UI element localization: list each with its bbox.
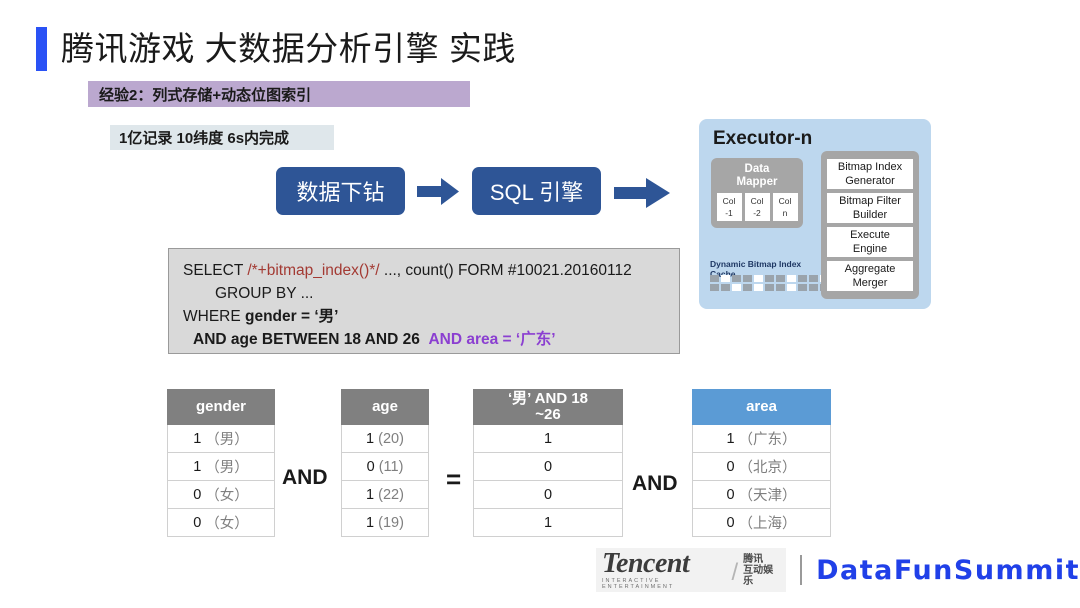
bitmap-cache-cell (776, 275, 785, 282)
bitmap-cache-cell (710, 284, 719, 291)
table-row: 1 （男） (167, 425, 275, 453)
sql-line1-rest: ..., count() FORM #10021.20160112 (380, 262, 632, 279)
row-label: (22) (378, 487, 404, 503)
sql-line-2: GROUP BY ... (169, 282, 679, 305)
bit-value: 1 (366, 487, 374, 503)
sql-line4-area-val: ‘广东’ (516, 331, 556, 348)
table-row: 1 (473, 509, 623, 537)
flow-node-data-drill[interactable]: 数据下钻 (276, 167, 405, 215)
bit-value: 1 (366, 515, 374, 531)
executor-stage-group: Bitmap IndexGenerator Bitmap FilterBuild… (821, 151, 919, 299)
row-label: （女） (205, 484, 249, 505)
executor-panel: Executor-n Data Mapper Col -1 Col -2 Col… (699, 119, 931, 309)
data-mapper-title: Data Mapper (711, 158, 803, 189)
stage-bitmap-filter-builder[interactable]: Bitmap FilterBuilder (827, 193, 913, 223)
tencent-cn-line1: 腾讯 (743, 554, 780, 565)
table-row: 0 （天津） (692, 481, 831, 509)
bit-value: 0 (193, 487, 201, 503)
metric-text: 1亿记录 10纬度 6s内完成 (110, 127, 289, 148)
footer-divider (800, 555, 802, 585)
subtitle-banner: 经验2：列式存储+动态位图索引 (88, 81, 470, 107)
tencent-logo: Tencent INTERACTIVE ENTERTAINMENT / 腾讯 互… (596, 548, 786, 592)
bitmap-cache-cell (732, 284, 741, 291)
data-mapper-col: Col -2 (745, 193, 770, 221)
sql-code-block: SELECT /*+bitmap_index()*/ ..., count() … (168, 248, 680, 354)
bit-value: 0 (726, 515, 734, 531)
table-row: 0 (11) (341, 453, 429, 481)
sql-line-1: SELECT /*+bitmap_index()*/ ..., count() … (169, 259, 679, 282)
bitmap-cache-cell (787, 275, 796, 282)
row-label: （北京） (739, 456, 797, 477)
table-row: 0 （女） (167, 509, 275, 537)
data-mapper-columns: Col -1 Col -2 Col n (711, 193, 803, 221)
table-row: 0 (473, 481, 623, 509)
table-result: ‘男’ AND 18 ~26 1 0 0 1 (473, 389, 623, 537)
tencent-tagline: INTERACTIVE ENTERTAINMENT (602, 579, 726, 590)
stage-line1: Bitmap Filter (839, 195, 901, 207)
bit-value: 0 (544, 487, 552, 503)
table-row: 1 (20) (341, 425, 429, 453)
table-area-header: area (692, 389, 831, 425)
stage-line1: Aggregate (845, 263, 896, 275)
operator-and-1: AND (282, 466, 328, 490)
bitmap-cache-cell (798, 275, 807, 282)
sql-line3-val: ‘男’ (314, 308, 338, 325)
sql-line3-where: WHERE (183, 308, 245, 325)
table-result-header: ‘男’ AND 18 ~26 (473, 389, 623, 425)
bit-value: 0 (193, 515, 201, 531)
row-label: (19) (378, 515, 404, 531)
bitmap-cache-cell (710, 275, 719, 282)
executor-title: Executor-n (713, 128, 812, 150)
data-mapper-title-line1: Data (711, 163, 803, 176)
stage-line2: Builder (853, 209, 887, 221)
bit-value: 1 (193, 431, 201, 447)
stage-line2: Engine (853, 243, 887, 255)
stage-line2: Generator (845, 175, 895, 187)
sql-line4-area-cond: AND area = (428, 331, 515, 348)
table-row: 0 （女） (167, 481, 275, 509)
page-title: 腾讯游戏 大数据分析引擎 实践 (36, 27, 516, 71)
datafunsummit-logo: DataFunSummit (816, 555, 1080, 586)
sql-line-4: AND age BETWEEN 18 AND 26 AND area = ‘广东… (169, 328, 679, 351)
table-row: 0 (473, 453, 623, 481)
bitmap-cache-cell (721, 275, 730, 282)
stage-line1: Bitmap Index (838, 161, 902, 173)
tencent-name: Tencent (602, 550, 726, 578)
data-mapper-group: Data Mapper Col -1 Col -2 Col n (711, 158, 803, 228)
bitmap-cache-cell (743, 284, 752, 291)
flow-arrow-1-icon (417, 178, 459, 205)
bit-value: 1 (193, 459, 201, 475)
bit-value: 0 (544, 459, 552, 475)
row-label: （上海） (739, 512, 797, 533)
col-name: Col (745, 195, 770, 207)
subtitle-text: 经验2：列式存储+动态位图索引 (88, 84, 311, 105)
tencent-cn-line2: 互动娱乐 (743, 565, 780, 587)
sql-line-3: WHERE gender = ‘男’ (169, 305, 679, 328)
table-gender: gender 1 （男） 1 （男） 0 （女） 0 （女） (167, 389, 275, 537)
bitmap-cache-cell (754, 284, 763, 291)
bitmap-cache-cell (743, 275, 752, 282)
table-area: area 1 （广东） 0 （北京） 0 （天津） 0 （上海） (692, 389, 831, 537)
bit-value: 1 (544, 515, 552, 531)
row-label: （男） (205, 428, 249, 449)
table-row: 1 (19) (341, 509, 429, 537)
footer-logos: Tencent INTERACTIVE ENTERTAINMENT / 腾讯 互… (596, 548, 1080, 592)
bitmap-cache-cell (721, 284, 730, 291)
bitmap-cache-cell (809, 284, 818, 291)
row-label: （天津） (739, 484, 797, 505)
operator-equals: = (446, 464, 461, 495)
col-index: n (773, 207, 798, 219)
data-mapper-col: Col n (773, 193, 798, 221)
title-accent-bar (36, 27, 47, 71)
data-mapper-col: Col -1 (717, 193, 742, 221)
table-row: 1 （男） (167, 453, 275, 481)
sql-line3-col: gender = (245, 308, 314, 325)
col-index: -2 (745, 207, 770, 219)
flow-node-sql-engine[interactable]: SQL 引擎 (472, 167, 601, 215)
tencent-wordmark: Tencent INTERACTIVE ENTERTAINMENT (602, 550, 726, 590)
bitmap-cache-cell (765, 275, 774, 282)
bit-value: 1 (366, 431, 374, 447)
bitmap-cache-cell (765, 284, 774, 291)
table-gender-header: gender (167, 389, 275, 425)
table-row: 0 （上海） (692, 509, 831, 537)
sql-line1-hint: /*+bitmap_index()*/ (247, 262, 379, 279)
metric-banner: 1亿记录 10纬度 6s内完成 (110, 125, 334, 150)
table-row: 0 （北京） (692, 453, 831, 481)
bitmap-cache-cell (809, 275, 818, 282)
bit-value: 0 (726, 487, 734, 503)
operator-and-2: AND (632, 472, 678, 496)
stage-line2: Merger (853, 277, 888, 289)
stage-execute-engine[interactable]: ExecuteEngine (827, 227, 913, 257)
table-age-header: age (341, 389, 429, 425)
flow-node-drill-label: 数据下钻 (296, 175, 384, 207)
tencent-slash-divider: / (731, 559, 738, 587)
sql-line4-age: AND age BETWEEN 18 AND 26 (193, 331, 420, 348)
stage-aggregate-merger[interactable]: AggregateMerger (827, 261, 913, 291)
bitmap-cache-label-line1: Dynamic Bitmap Index (710, 259, 816, 269)
bit-value: 1 (726, 431, 734, 447)
table-result-header-line1: ‘男’ AND 18 (508, 390, 588, 407)
bit-value: 0 (367, 459, 375, 475)
table-result-header-line2: ~26 (535, 406, 560, 423)
slide-canvas: 腾讯游戏 大数据分析引擎 实践 经验2：列式存储+动态位图索引 1亿记录 10纬… (0, 0, 1080, 608)
table-row: 1 (473, 425, 623, 453)
bit-value: 1 (544, 431, 552, 447)
data-mapper-title-line2: Mapper (711, 176, 803, 189)
tencent-chinese-name: 腾讯 互动娱乐 (743, 554, 780, 590)
stage-bitmap-index-generator[interactable]: Bitmap IndexGenerator (827, 159, 913, 189)
col-index: -1 (717, 207, 742, 219)
flow-node-sql-label: SQL 引擎 (490, 175, 583, 207)
bitmap-cache-cell (776, 284, 785, 291)
col-name: Col (717, 195, 742, 207)
row-label: （男） (205, 456, 249, 477)
table-row: 1 （广东） (692, 425, 831, 453)
col-name: Col (773, 195, 798, 207)
table-row: 1 (22) (341, 481, 429, 509)
row-label: (20) (378, 431, 404, 447)
row-label: （女） (205, 512, 249, 533)
stage-line1: Execute (850, 229, 890, 241)
bit-value: 0 (726, 459, 734, 475)
flow-arrow-2-icon (614, 178, 670, 208)
row-label: （广东） (739, 428, 797, 449)
bitmap-cache-cell (798, 284, 807, 291)
bitmap-cache-cell (732, 275, 741, 282)
title-text: 腾讯游戏 大数据分析引擎 实践 (61, 27, 516, 71)
bitmap-cache-cell (754, 275, 763, 282)
table-age: age 1 (20) 0 (11) 1 (22) 1 (19) (341, 389, 429, 537)
sql-line1-select: SELECT (183, 262, 247, 279)
row-label: (11) (379, 459, 404, 475)
bitmap-cache-cell (787, 284, 796, 291)
